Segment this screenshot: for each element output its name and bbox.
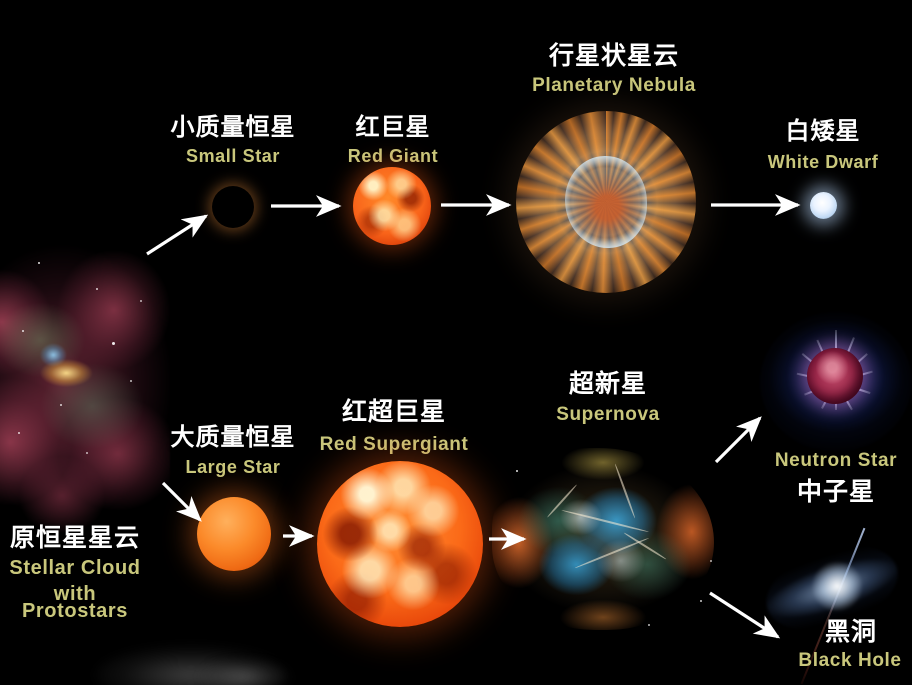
white-dwarf-object (810, 192, 837, 219)
small-star-cn-label: 小质量恒星 (158, 114, 308, 142)
nebula-star (86, 452, 88, 454)
large-star-en-label: Large Star (158, 457, 308, 478)
neutron-star-cn-label: 中子星 (756, 478, 912, 507)
large-star-object (197, 497, 271, 571)
stellar-evolution-diagram: 原恒星星云 Stellar Cloud with Protostars 小质量恒… (0, 0, 912, 685)
red-giant-en-label: Red Giant (322, 146, 464, 167)
supernova-en-label: Supernova (532, 404, 684, 426)
supernova-cn-label: 超新星 (532, 370, 684, 399)
small-star-en-label: Small Star (158, 146, 308, 167)
stellar-cloud-en-label-line1: Stellar Cloud (0, 557, 150, 580)
nebula-star (60, 404, 62, 406)
red-giant-cn-label: 红巨星 (322, 114, 464, 142)
large-star-cn-label: 大质量恒星 (158, 424, 308, 452)
black-hole-image (758, 536, 912, 668)
supernova-remnant-image (492, 448, 714, 630)
nebula-star (22, 330, 24, 332)
red-supergiant-cn-label: 红超巨星 (312, 398, 476, 427)
neutron-star-en-label: Neutron Star (756, 450, 912, 472)
black-hole-cn-label: 黑洞 (796, 618, 906, 647)
black-hole-en-label: Black Hole (790, 650, 910, 672)
red-supergiant-en-label: Red Supergiant (312, 434, 476, 456)
nebula-star (96, 288, 98, 290)
crab-star (700, 600, 702, 602)
crab-star (710, 560, 712, 562)
neutron-star-core (807, 348, 863, 404)
arrow-supernova-to-neutron-star (716, 418, 760, 462)
white-dwarf-en-label: White Dwarf (752, 152, 894, 173)
red-giant-object (353, 167, 431, 245)
nebula-star (140, 300, 142, 302)
nebula-star (38, 262, 40, 264)
red-supergiant-object (317, 461, 483, 627)
stellar-cloud-en-label-line3: Protostars (0, 600, 150, 623)
nebula-star (112, 342, 115, 345)
crab-star (516, 470, 518, 472)
small-star-object (212, 186, 254, 228)
crab-star (648, 624, 650, 626)
nebula-star (18, 432, 20, 434)
planetary-nebula-en-label: Planetary Nebula (522, 75, 706, 97)
planetary-nebula-cn-label: 行星状星云 (522, 42, 706, 71)
stellar-cloud-nebula-image (0, 232, 170, 532)
stellar-cloud-cn-label: 原恒星星云 (0, 524, 150, 553)
nebula-star (130, 380, 132, 382)
white-dwarf-cn-label: 白矮星 (752, 118, 894, 146)
neutron-star-image (760, 312, 912, 452)
planetary-nebula-core (565, 156, 647, 248)
